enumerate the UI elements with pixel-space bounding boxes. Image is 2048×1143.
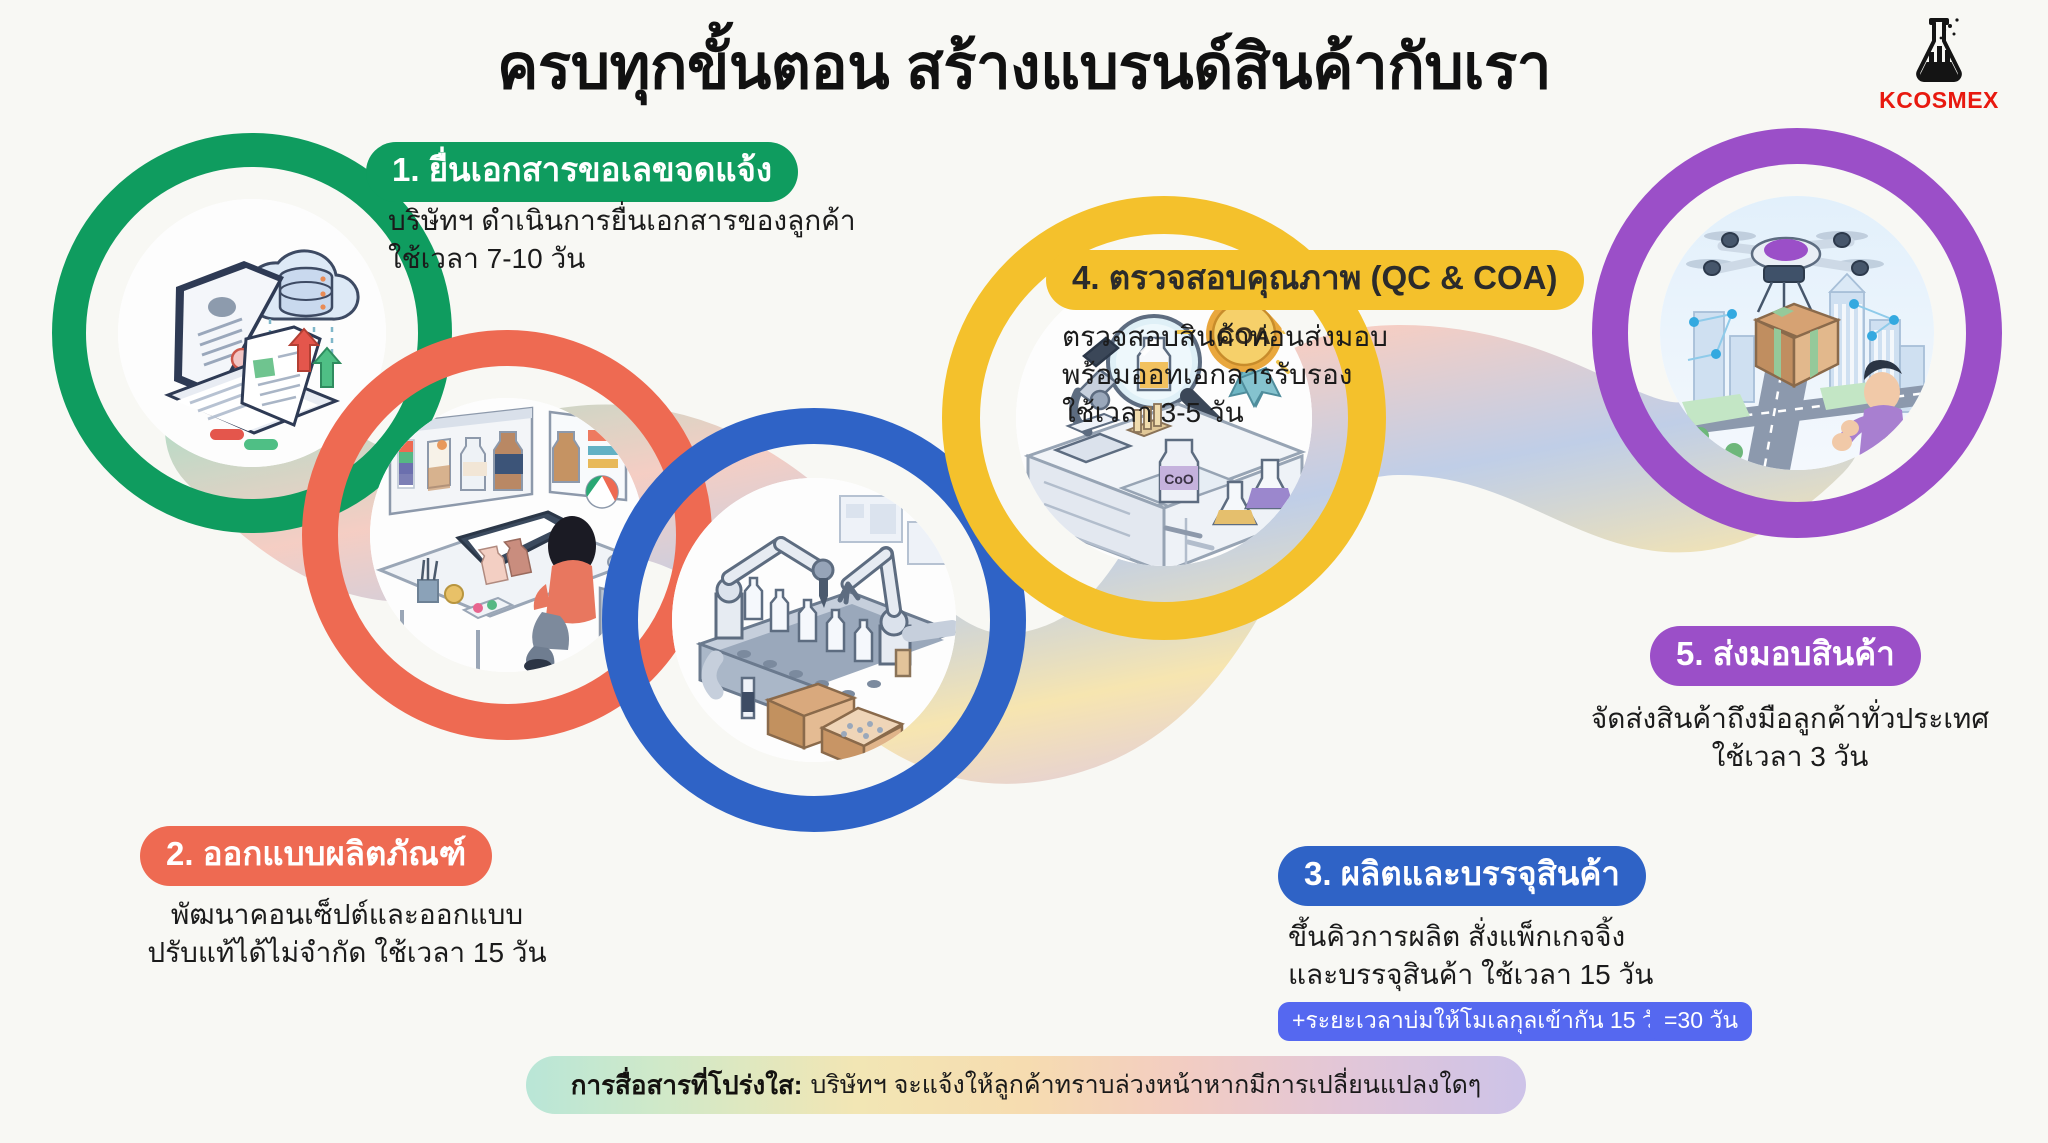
step-5-illustration	[1660, 196, 1934, 470]
sample-bottle-label: CoO	[1164, 471, 1194, 487]
step-3-body-line-2: และบรรจุสินค้า ใช้เวลา 15 วัน	[1288, 956, 1653, 993]
brand-logo: KCOSMEX	[1844, 14, 2034, 114]
step-3-badge: 3. ผลิตและบรรจุสินค้า	[1278, 846, 1646, 906]
step-1-badge: 1. ยื่นเอกสารขอเลขจดแจ้ง	[366, 142, 798, 202]
flask-icon	[1901, 14, 1977, 86]
step-2-body-line-1: พัฒนาคอนเซ็ปต์และออกแบบ	[122, 896, 572, 933]
step-5-badge: 5. ส่งมอบสินค้า	[1650, 626, 1921, 686]
brand-logo-text: KCOSMEX	[1844, 87, 2034, 114]
step-3-pill-total-days: =30 วัน	[1650, 1002, 1752, 1041]
step-5-body-line-1: จัดส่งสินค้าถึงมือลูกค้าทั่วประเทศ	[1560, 700, 2020, 737]
footer-banner: การสื่อสารที่โปร่งใส: บริษัทฯ จะแจ้งให้ล…	[526, 1056, 1526, 1114]
step-3-pill-curing-time: +ระยะเวลาบ่มให้โมเลกุลเข้ากัน 15 วัน	[1278, 1002, 1685, 1041]
step-4-body-line-3: ใช้เวลา 3-5 วัน	[1062, 394, 1244, 431]
step-3-body-line-1: ขึ้นคิวการผลิต สั่งแพ็กเกจจิ้ง	[1288, 918, 1625, 955]
step-2-badge: 2. ออกแบบผลิตภัณฑ์	[140, 826, 492, 886]
infographic-canvas: ครบทุกขั้นตอน สร้างแบรนด์สินค้ากับเรา KC…	[0, 0, 2048, 1143]
step-5-body-line-2: ใช้เวลา 3 วัน	[1560, 738, 2020, 775]
step-1-body-line-1: บริษัทฯ ดำเนินการยื่นเอกสารของลูกค้า	[388, 202, 856, 239]
step-3-illustration	[672, 478, 956, 762]
step-2-body-line-2: ปรับแท้ได้ไม่จำกัด ใช้เวลา 15 วัน	[122, 934, 572, 971]
step-4-body-line-2: พร้อมออทเอกลารรับรอง	[1062, 356, 1352, 393]
step-4-body-line-1: ตรวจสอบสินค้าท่อนส่งมอบ	[1062, 318, 1388, 355]
step-1-body-line-2: ใช้เวลา 7-10 วัน	[388, 240, 585, 277]
step-4-badge: 4. ตรวจสอบคุณภาพ (QC & COA)	[1046, 250, 1584, 310]
page-title: ครบทุกขั้นตอน สร้างแบรนด์สินค้ากับเรา	[0, 18, 2048, 116]
footer-strong-text: การสื่อสารที่โปร่งใส:	[571, 1065, 803, 1106]
footer-rest-text: บริษัทฯ จะแจ้งให้ลูกค้าทราบล่วงหน้าหากมี…	[810, 1065, 1481, 1105]
